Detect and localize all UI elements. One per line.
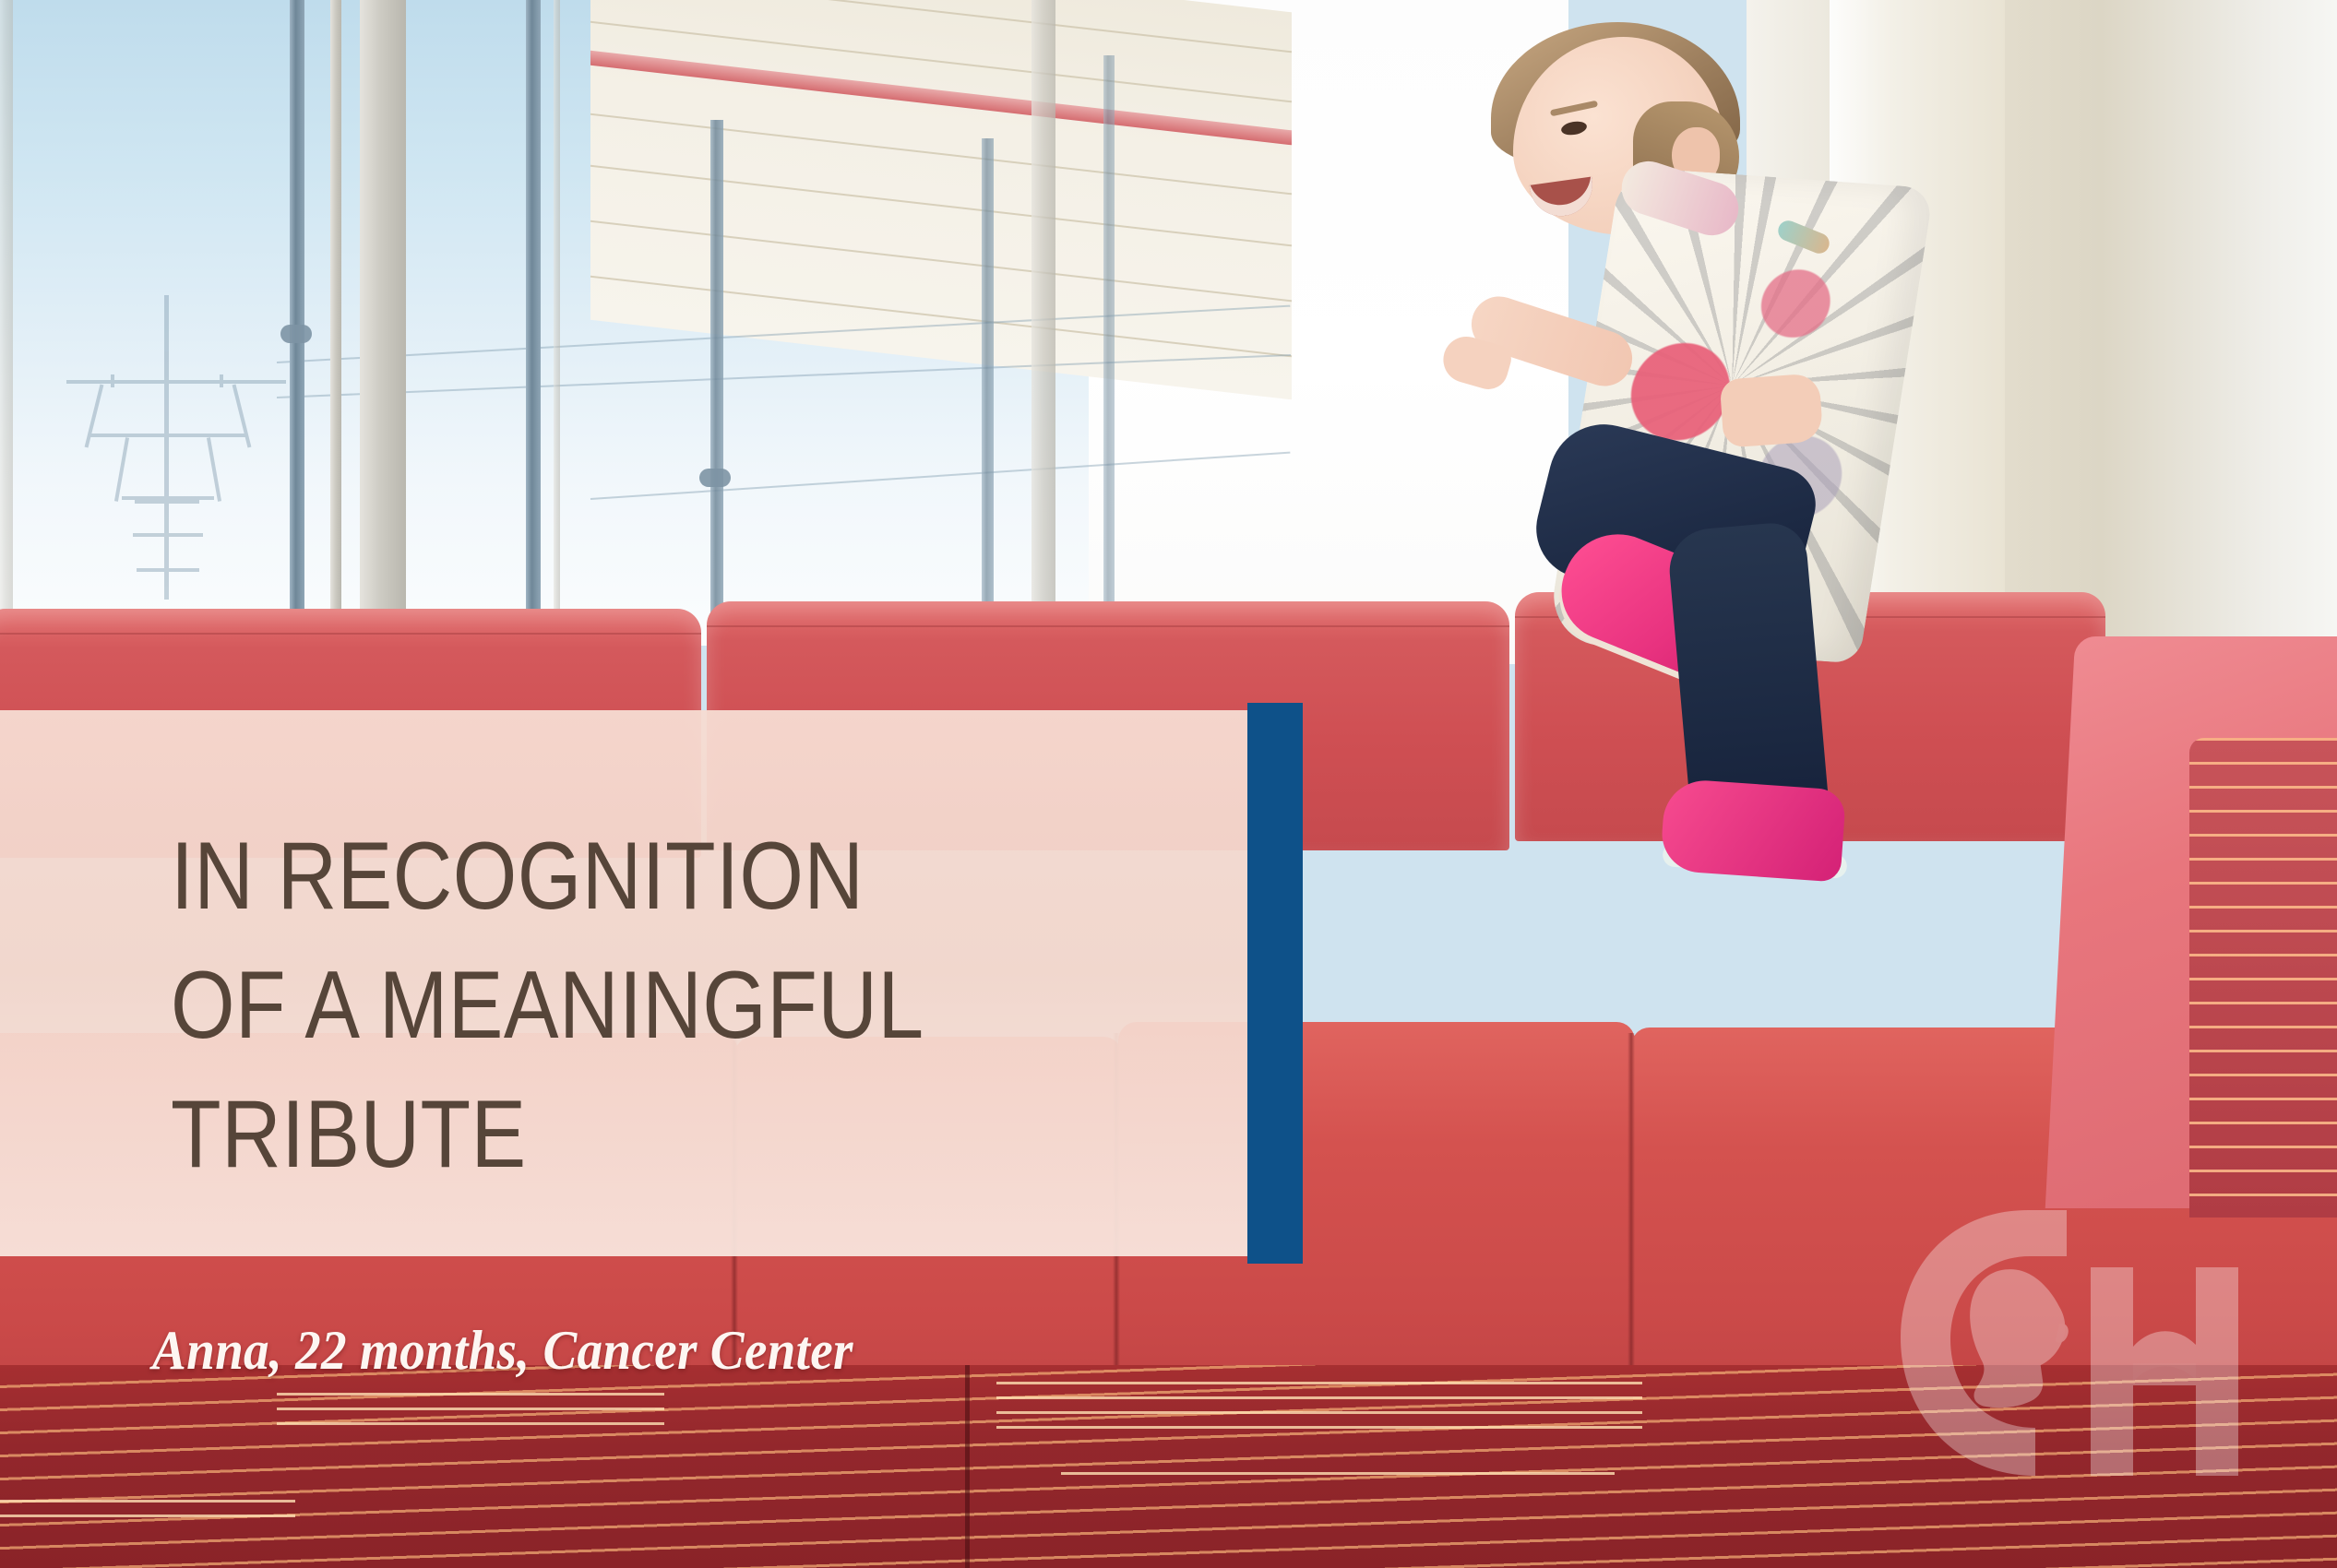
- page-title: IN RECOGNITION OF A MEANINGFUL TRIBUTE: [171, 812, 1059, 1199]
- mullion-bracket: [699, 469, 731, 487]
- photo-caption: Anna, 22 months, Cancer Center: [152, 1319, 853, 1383]
- childrens-hospital-logo-watermark: [1873, 1199, 2260, 1503]
- child-right-hand: [1720, 373, 1824, 447]
- transmission-tower: [55, 295, 295, 600]
- couch-striped-arm-panel: [2189, 738, 2337, 1218]
- poster-canvas: IN RECOGNITION OF A MEANINGFUL TRIBUTE A…: [0, 0, 2337, 1568]
- mullion-bracket: [280, 325, 312, 343]
- blue-accent-bar: [1247, 703, 1303, 1264]
- child-figure: [1402, 9, 1919, 1116]
- child-right-shoe: [1660, 778, 1846, 882]
